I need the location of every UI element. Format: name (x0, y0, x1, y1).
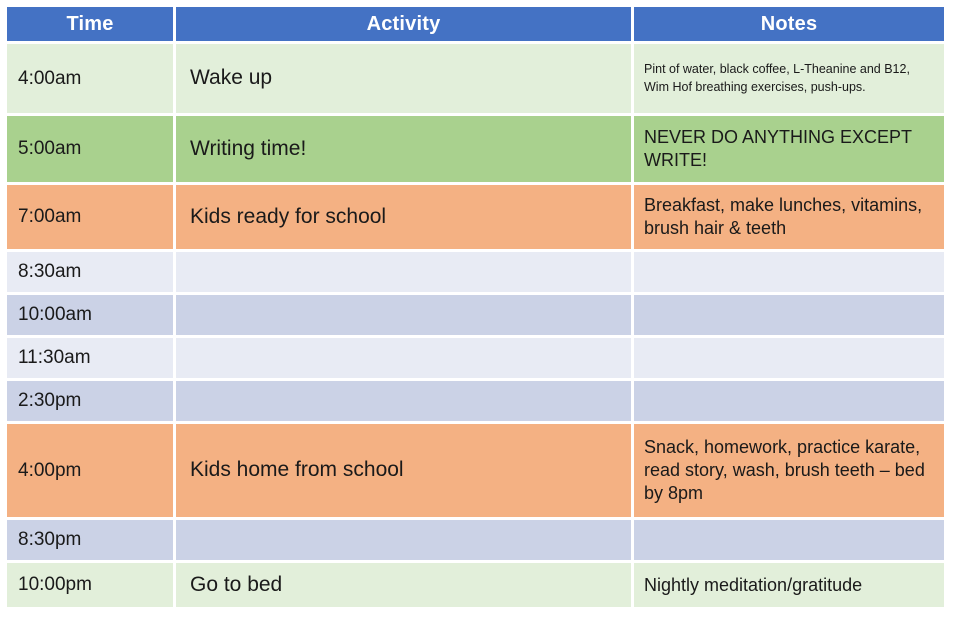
table-row: 7:00am Kids ready for school Breakfast, … (7, 185, 944, 249)
cell-time: 2:30pm (7, 381, 173, 421)
table-row: 8:30pm (7, 520, 944, 560)
cell-time: 7:00am (7, 185, 173, 249)
cell-time: 5:00am (7, 116, 173, 182)
cell-notes: Breakfast, make lunches, vitamins, brush… (634, 185, 944, 249)
column-header-activity: Activity (176, 7, 631, 41)
table-row: 5:00am Writing time! NEVER DO ANYTHING E… (7, 116, 944, 182)
cell-notes: Nightly meditation/gratitude (634, 563, 944, 607)
cell-notes: NEVER DO ANYTHING EXCEPT WRITE! (634, 116, 944, 182)
cell-notes (634, 520, 944, 560)
cell-time: 8:30am (7, 252, 173, 292)
cell-activity (176, 381, 631, 421)
cell-activity: Writing time! (176, 116, 631, 182)
table-row: 11:30am (7, 338, 944, 378)
cell-notes (634, 252, 944, 292)
cell-notes (634, 338, 944, 378)
table-header: Time Activity Notes (7, 7, 944, 41)
table-row: 10:00am (7, 295, 944, 335)
cell-time: 10:00pm (7, 563, 173, 607)
cell-activity (176, 252, 631, 292)
cell-notes (634, 295, 944, 335)
cell-notes: Pint of water, black coffee, L-Theanine … (634, 44, 944, 113)
column-header-time: Time (7, 7, 173, 41)
table-row: 10:00pm Go to bed Nightly meditation/gra… (7, 563, 944, 607)
cell-time: 11:30am (7, 338, 173, 378)
cell-activity: Wake up (176, 44, 631, 113)
cell-time: 10:00am (7, 295, 173, 335)
cell-activity: Kids ready for school (176, 185, 631, 249)
table-body: 4:00am Wake up Pint of water, black coff… (7, 44, 944, 607)
table-row: 2:30pm (7, 381, 944, 421)
table-row: 8:30am (7, 252, 944, 292)
table-row: 4:00pm Kids home from school Snack, home… (7, 424, 944, 517)
column-header-notes: Notes (634, 7, 944, 41)
cell-time: 4:00am (7, 44, 173, 113)
cell-activity (176, 295, 631, 335)
daily-schedule-table: Time Activity Notes 4:00am Wake up Pint … (4, 4, 947, 610)
cell-time: 4:00pm (7, 424, 173, 517)
cell-activity (176, 520, 631, 560)
header-row: Time Activity Notes (7, 7, 944, 41)
cell-time: 8:30pm (7, 520, 173, 560)
cell-activity: Go to bed (176, 563, 631, 607)
table-row: 4:00am Wake up Pint of water, black coff… (7, 44, 944, 113)
cell-notes: Snack, homework, practice karate, read s… (634, 424, 944, 517)
cell-activity (176, 338, 631, 378)
cell-activity: Kids home from school (176, 424, 631, 517)
cell-notes (634, 381, 944, 421)
